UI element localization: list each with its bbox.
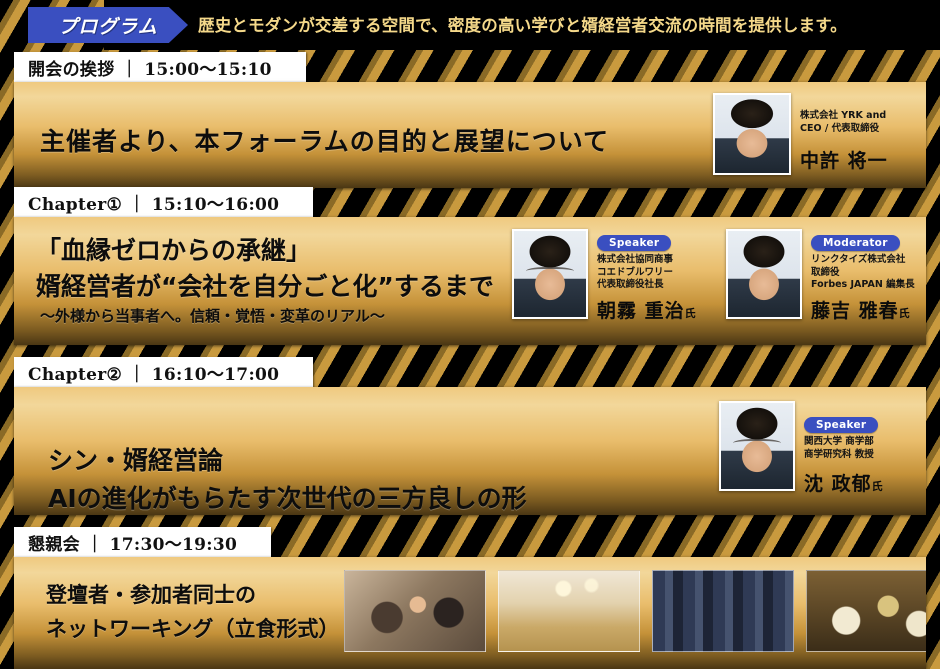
section-opening-panel: 主催者より、本フォーラムの目的と展望について 株式会社 YRK and CEO … xyxy=(14,82,926,188)
program-poster: プログラム 歴史とモダンが交差する空間で、密度の高い学びと婿経営者交流の時間を提… xyxy=(0,0,940,669)
speaker-shim: Speaker 関西大学 商学部 商学研究科 教授 沈 政郁氏 xyxy=(719,401,908,496)
moderator-name-suffix: 氏 xyxy=(899,307,910,320)
speaker-affiliation-line-2: CEO / 代表取締役 xyxy=(800,122,908,135)
speaker-affiliation-line-2: コエドブルワリー xyxy=(597,267,696,280)
speaker-asagiri: Speaker 株式会社協同商事 コエドブルワリー 代表取締役社長 朝霧 重治氏 xyxy=(512,229,696,323)
moderator-fujiyoshi: Moderator リンクタイズ株式会社 取締役 Forbes JAPAN 編集… xyxy=(726,229,915,323)
section-opening-title: 主催者より、本フォーラムの目的と展望について xyxy=(40,122,609,158)
section-chapter-1-panel: 「血縁ゼロからの承継」 婿経営者が“会社を自分ごと化”するまで 〜外様から当事者… xyxy=(14,217,926,345)
speaker-meta: Speaker 関西大学 商学部 商学研究科 教授 沈 政郁氏 xyxy=(804,401,908,496)
section-chapter-2-title-line-1: シン・婿経営論 xyxy=(48,441,223,477)
moderator-portrait xyxy=(726,229,802,319)
speaker-name-suffix: 氏 xyxy=(685,307,696,320)
speaker-portrait xyxy=(512,229,588,319)
speaker-name-text: 中許 将一 xyxy=(800,150,888,172)
speaker-name-suffix: 氏 xyxy=(872,480,883,493)
section-chapter-1: Chapter① ｜ 15:10〜16:00 「血縁ゼロからの承継」 婿経営者が… xyxy=(14,187,926,345)
moderator-name-text: 藤吉 雅春 xyxy=(811,300,899,322)
buffet-food-photo xyxy=(806,570,926,652)
section-opening-tab-label: 開会の挨拶 ｜ 15:00〜15:10 xyxy=(28,55,272,80)
section-chapter-1-tab-label: Chapter① ｜ 15:10〜16:00 xyxy=(28,190,279,215)
role-badge-speaker: Speaker xyxy=(597,235,671,251)
standing-reception-photo xyxy=(652,570,794,652)
role-badge-speaker: Speaker xyxy=(804,417,878,433)
section-chapter-2-title-line-2: AIの進化がもらたす次世代の三方良しの形 xyxy=(48,479,527,515)
section-chapter-2-tab-label: Chapter② ｜ 16:10〜17:00 xyxy=(28,360,279,385)
role-badge-moderator: Moderator xyxy=(811,235,900,251)
speaker-nakamoto: 株式会社 YRK and CEO / 代表取締役 中許 将一 xyxy=(713,93,908,175)
glasses-icon xyxy=(526,267,574,277)
program-badge: プログラム xyxy=(28,7,188,43)
portrait-face-illustration xyxy=(728,231,800,317)
networking-photo-strip xyxy=(344,570,926,652)
section-opening-tab: 開会の挨拶 ｜ 15:00〜15:10 xyxy=(14,52,306,82)
section-chapter-2-panel: シン・婿経営論 AIの進化がもらたす次世代の三方良しの形 Speaker 関西大… xyxy=(14,387,926,515)
section-networking-title-line-2: ネットワーキング（立食形式） xyxy=(46,613,339,643)
section-networking: 懇親会 ｜ 17:30〜19:30 登壇者・参加者同士の ネットワーキング（立食… xyxy=(14,527,926,669)
section-chapter-1-title-line-1: 「血縁ゼロからの承継」 xyxy=(36,231,311,267)
moderator-affiliation-line-2: 取締役 xyxy=(811,267,915,280)
section-opening: 開会の挨拶 ｜ 15:00〜15:10 主催者より、本フォーラムの目的と展望につ… xyxy=(14,52,926,188)
glasses-icon xyxy=(733,439,781,449)
header: プログラム 歴史とモダンが交差する空間で、密度の高い学びと婿経営者交流の時間を提… xyxy=(0,0,940,50)
champagne-glass-photo xyxy=(498,570,640,652)
speaker-affiliation-line-1: 関西大学 商学部 xyxy=(804,436,908,449)
speaker-name: 沈 政郁氏 xyxy=(804,469,908,496)
program-badge-label: プログラム xyxy=(58,12,157,39)
header-tagline: 歴史とモダンが交差する空間で、密度の高い学びと婿経営者交流の時間を提供します。 xyxy=(198,12,847,36)
speaker-name-text: 沈 政郁 xyxy=(804,473,872,495)
section-networking-panel: 登壇者・参加者同士の ネットワーキング（立食形式） xyxy=(14,557,926,669)
speaker-name: 中許 将一 xyxy=(800,146,908,173)
speaker-name-text: 朝霧 重治 xyxy=(597,300,685,322)
section-chapter-1-title-line-2: 婿経営者が“会社を自分ごと化”するまで xyxy=(36,267,494,303)
speaker-meta: Speaker 株式会社協同商事 コエドブルワリー 代表取締役社長 朝霧 重治氏 xyxy=(597,229,696,323)
section-chapter-2: Chapter② ｜ 16:10〜17:00 シン・婿経営論 AIの進化がもらた… xyxy=(14,357,926,515)
moderator-affiliation-line-1: リンクタイズ株式会社 xyxy=(811,254,915,267)
speaker-affiliation-line-3: 代表取締役社長 xyxy=(597,279,696,292)
speaker-portrait xyxy=(713,93,791,175)
networking-conversation-photo xyxy=(344,570,486,652)
moderator-name: 藤吉 雅春氏 xyxy=(811,296,915,323)
speaker-meta: 株式会社 YRK and CEO / 代表取締役 中許 将一 xyxy=(800,93,908,173)
speaker-affiliation-line-2: 商学研究科 教授 xyxy=(804,449,908,462)
section-networking-title-line-1: 登壇者・参加者同士の xyxy=(46,579,256,609)
section-chapter-1-tab: Chapter① ｜ 15:10〜16:00 xyxy=(14,187,313,217)
speaker-portrait xyxy=(719,401,795,491)
speaker-name: 朝霧 重治氏 xyxy=(597,296,696,323)
section-chapter-1-subtitle: 〜外様から当事者へ。信頼・覚悟・変革のリアル〜 xyxy=(40,305,385,326)
portrait-face-illustration xyxy=(715,95,789,173)
section-chapter-2-tab: Chapter② ｜ 16:10〜17:00 xyxy=(14,357,313,387)
speaker-affiliation-line-1: 株式会社協同商事 xyxy=(597,254,696,267)
section-networking-tab-label: 懇親会 ｜ 17:30〜19:30 xyxy=(28,530,237,555)
moderator-affiliation-line-3: Forbes JAPAN 編集長 xyxy=(811,279,915,292)
moderator-meta: Moderator リンクタイズ株式会社 取締役 Forbes JAPAN 編集… xyxy=(811,229,915,323)
speaker-affiliation-line-1: 株式会社 YRK and xyxy=(800,109,908,122)
section-networking-tab: 懇親会 ｜ 17:30〜19:30 xyxy=(14,527,271,557)
